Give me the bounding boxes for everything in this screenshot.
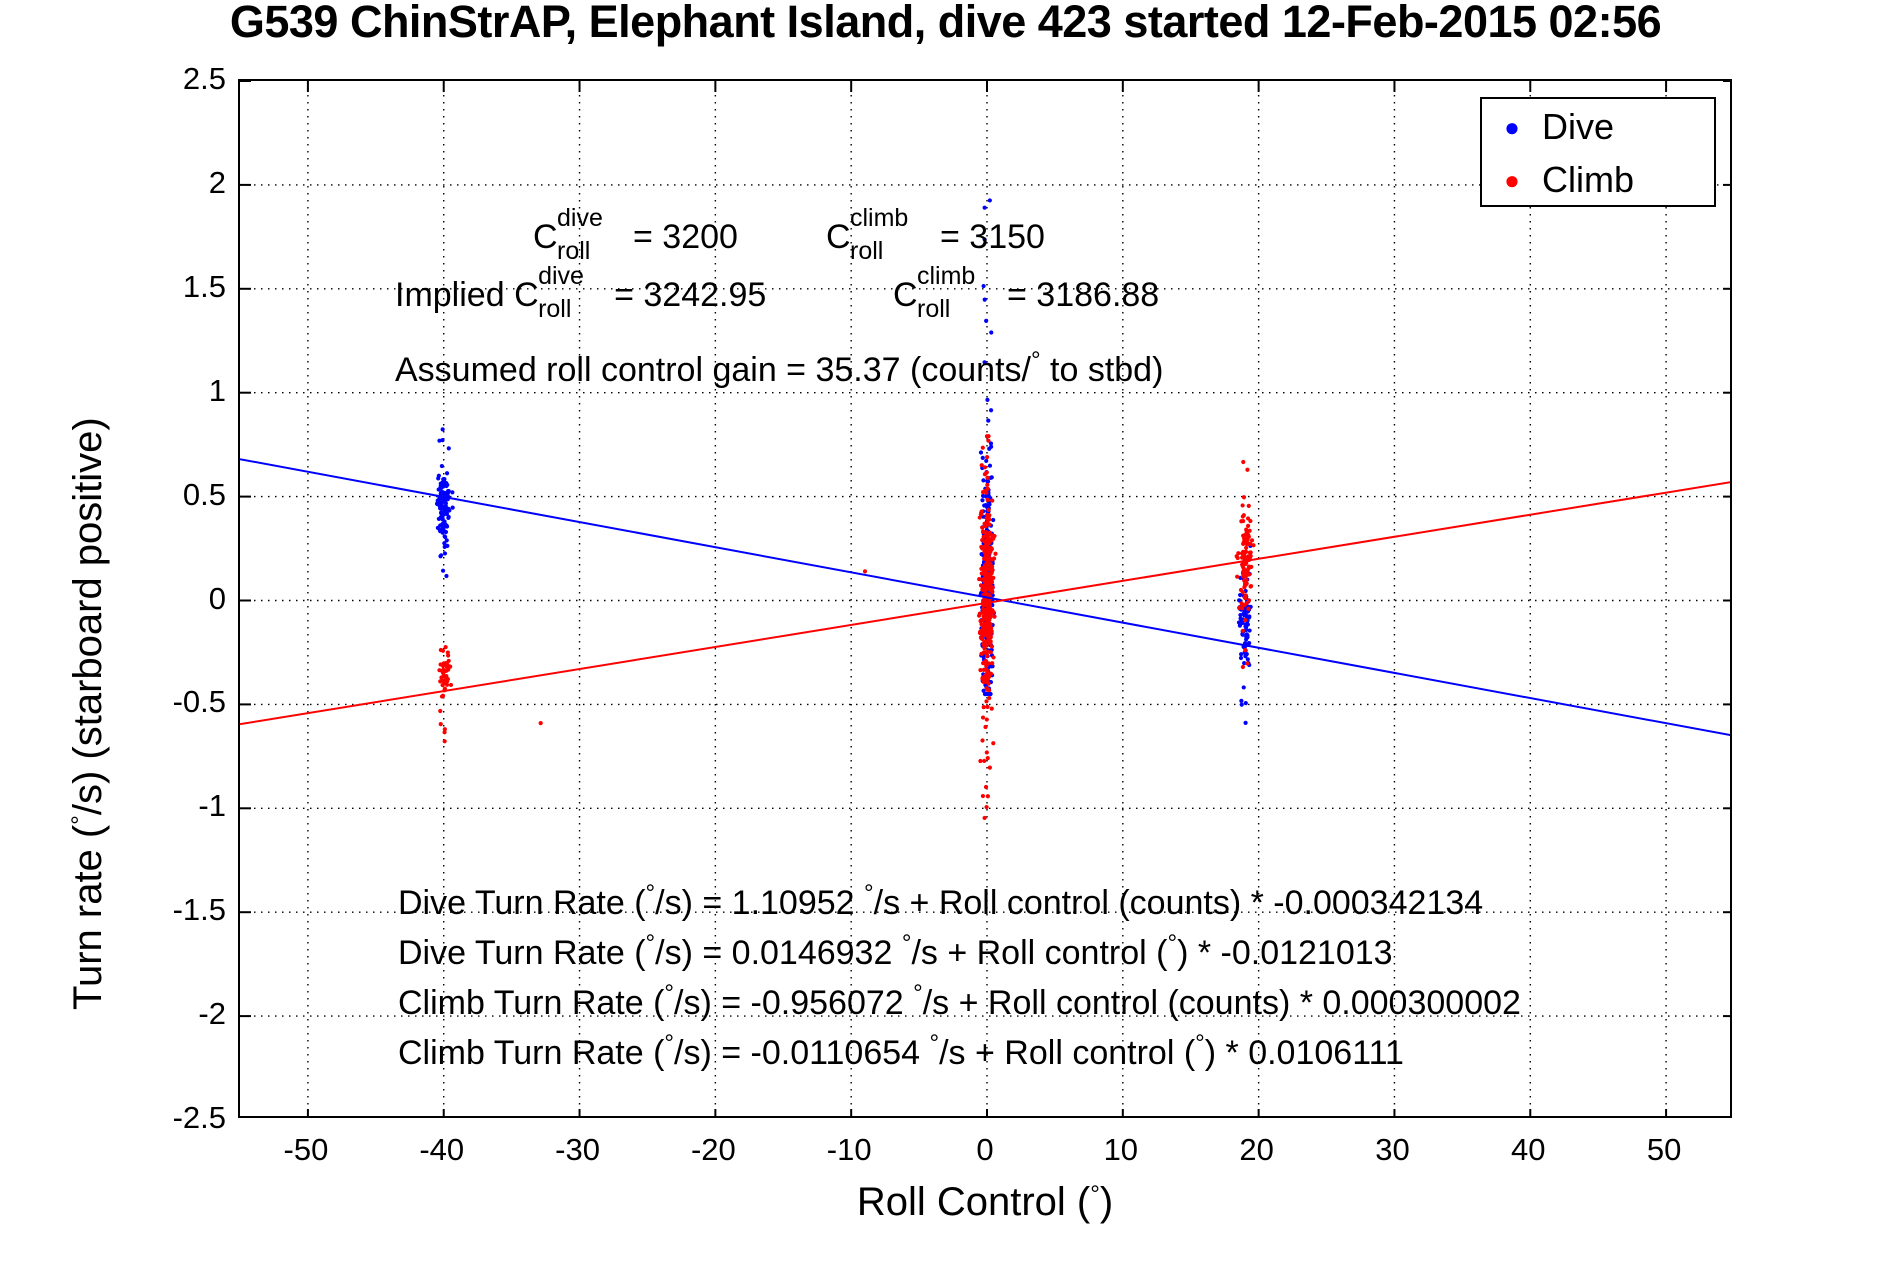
data-point [1246,607,1250,611]
x-tick-label: -20 [663,1132,763,1168]
x-axis-label-text: Roll Control ( [857,1180,1090,1224]
data-point [988,766,992,770]
data-point [986,508,990,512]
data-point [982,816,986,820]
legend-item-dive[interactable]: ● Dive [1482,99,1714,154]
data-point [982,668,986,672]
eq2-head: Climb Turn Rate ( [398,984,664,1022]
y-tick-label: -2.5 [116,1100,226,1136]
c-roll-climb-symbol: Cclimbroll [826,220,851,256]
implied-climb-value: = 3186.88 [998,276,1160,314]
data-point [1235,575,1239,579]
data-point [992,615,996,619]
equation-dive-counts: Dive Turn Rate (°/s) = 1.10952 °/s + Rol… [398,880,1483,923]
data-point [981,794,985,798]
data-point [978,759,982,763]
data-point [990,707,994,711]
data-point [1244,538,1248,542]
data-point [981,478,985,482]
data-point [444,574,448,578]
data-point [992,534,996,538]
x-tick-label: 50 [1614,1132,1714,1168]
data-point [1240,603,1244,607]
data-point [440,515,444,519]
data-point [1246,516,1250,520]
x-tick-label: -10 [799,1132,899,1168]
data-point [984,785,988,789]
data-point [1239,588,1243,592]
x-tick-label: 40 [1478,1132,1578,1168]
eq1-head: Dive Turn Rate ( [398,934,646,972]
data-point [980,463,984,467]
data-point [985,717,989,721]
data-point [989,330,993,334]
data-point [1244,701,1248,705]
eq3-head: Climb Turn Rate ( [398,1034,664,1072]
data-point [1238,616,1242,620]
annotation-implied-dive: Implied Cdiveroll = 3242.95 [395,278,766,314]
eq2-mid: /s) = -0.956072 [674,984,913,1022]
data-point [438,709,442,713]
data-point [1242,685,1246,689]
x-tick-label: -50 [256,1132,356,1168]
data-point [983,206,987,210]
data-point [1247,572,1251,576]
data-point [445,683,449,687]
data-point [1238,623,1242,627]
data-point [1248,529,1252,533]
data-point [441,694,445,698]
data-point [990,644,994,648]
data-point [1245,468,1249,472]
data-point [1243,618,1247,622]
c-roll-climb-value: = 3150 [931,218,1045,256]
c-roll-dive-value: = 3200 [624,218,738,256]
x-axis-label: Roll Control (°) [238,1180,1732,1225]
data-point [445,471,449,475]
data-point [982,549,986,553]
data-point [987,522,991,526]
data-point [981,715,985,719]
eq1-tail: ) * -0.0121013 [1177,934,1393,972]
data-point [989,408,993,412]
data-point [439,722,443,726]
data-point [1242,579,1246,583]
data-point [439,511,443,515]
data-point [539,721,543,725]
y-tick-label: 0.5 [116,477,226,513]
data-point [1241,514,1245,518]
data-point [438,554,442,558]
data-point [991,518,995,522]
data-point [985,750,989,754]
data-point [980,509,984,513]
degree-symbol-icon: ° [1031,347,1041,374]
data-point [1247,641,1251,645]
data-point [984,459,988,463]
data-point [1241,570,1245,574]
data-point [985,654,989,658]
eq0-mid: /s) = 1.10952 [655,884,864,922]
data-point [863,569,867,573]
data-point [450,490,454,494]
data-point [444,645,448,649]
implied-c-roll-dive-symbol: Cdiveroll [514,278,539,314]
data-point [437,668,441,672]
degree-symbol-icon: ° [1195,1030,1205,1057]
data-point [449,683,453,687]
data-point [1245,661,1249,665]
data-point [445,665,449,669]
data-point [989,572,993,576]
data-point [441,505,445,509]
data-point [437,474,441,478]
c-roll-dive-symbol: Cdiveroll [533,220,558,256]
data-point [1241,534,1245,538]
data-point [444,510,448,514]
roll-gain-text: Assumed roll control gain = 35.37 (count… [395,351,1031,389]
data-point [1247,504,1251,508]
degree-symbol-icon: ° [1090,1181,1100,1208]
implied-prefix: Implied [395,276,514,314]
data-point [443,522,447,526]
data-point [982,642,986,646]
data-point [1244,593,1248,597]
data-point [1247,565,1251,569]
data-point [1244,613,1248,617]
y-tick-label: 2 [116,165,226,201]
data-point [441,683,445,687]
data-point [991,655,995,659]
data-point [987,688,991,692]
annotation-c-roll-dive: Cdiveroll = 3200 [533,220,738,256]
data-point [984,699,988,703]
data-point [989,611,993,615]
data-point [1239,519,1243,523]
data-point [986,794,990,798]
data-point [982,676,986,680]
data-point [984,664,988,668]
data-point [447,446,451,450]
degree-symbol-icon: ° [913,980,923,1007]
data-point [977,614,981,618]
data-point [990,498,994,502]
data-point [979,652,983,656]
data-point [442,661,446,665]
data-point [982,759,986,763]
data-point [1239,699,1243,703]
data-point [985,470,989,474]
x-tick-label: 20 [1207,1132,1307,1168]
x-tick-label: 10 [1071,1132,1171,1168]
data-point [444,530,448,534]
data-point [438,528,442,532]
scatter-series-climb [437,434,1255,820]
data-point [985,483,989,487]
eq2-mid2: /s + Roll control (counts) * 0.000300002 [923,984,1521,1022]
y-tick-label: -0.5 [116,684,226,720]
y-axis-label-text: Turn rate ( [66,825,110,1010]
legend-marker-dive-icon: ● [1482,114,1542,140]
data-point [987,696,991,700]
data-point [990,475,994,479]
data-point [440,464,444,468]
data-point [446,653,450,657]
data-point [989,626,993,630]
data-point [982,705,986,709]
implied-c-roll-climb-symbol: Cclimbroll [893,278,918,314]
data-point [984,489,988,493]
data-point [1245,622,1249,626]
data-point [987,502,991,506]
data-point [443,727,447,731]
roll-gain-tail: to stbd) [1041,351,1164,389]
data-point [1241,460,1245,464]
legend-item-climb[interactable]: ● Climb [1482,152,1714,207]
eq1-mid2: /s + Roll control ( [911,934,1167,972]
degree-symbol-icon: ° [67,815,94,825]
data-point [438,523,442,527]
y-tick-label: 1.5 [116,269,226,305]
data-point [985,398,989,402]
data-point [984,659,988,663]
equation-climb-counts: Climb Turn Rate (°/s) = -0.956072 °/s + … [398,980,1521,1023]
data-point [1241,665,1245,669]
data-point [437,439,441,443]
data-point [990,661,994,665]
data-point [991,741,995,745]
data-point [981,625,985,629]
data-point [1240,562,1244,566]
data-point [983,563,987,567]
data-point [439,483,443,487]
legend-label-dive: Dive [1542,106,1614,148]
annotation-implied-climb: Cclimbroll = 3186.88 [893,278,1159,314]
data-point [1246,657,1250,661]
data-point [439,490,443,494]
data-point [984,572,988,576]
data-point [978,515,982,519]
annotation-roll-gain: Assumed roll control gain = 35.37 (count… [395,348,1163,389]
data-point [984,319,988,323]
data-point [441,427,445,431]
data-point [986,604,990,608]
figure-root: G539 ChinStrAP, Elephant Island, dive 42… [0,0,1891,1262]
degree-symbol-icon: ° [646,930,656,957]
data-point [984,692,988,696]
data-point [1236,551,1240,555]
data-point [1240,555,1244,559]
legend-marker-climb-icon: ● [1482,167,1542,193]
data-point [1248,550,1252,554]
data-point [1241,503,1245,507]
equation-climb-degrees: Climb Turn Rate (°/s) = -0.0110654 °/s +… [398,1030,1404,1073]
eq3-mid2: /s + Roll control ( [939,1034,1195,1072]
data-point [1243,583,1247,587]
data-point [987,675,991,679]
data-point [984,581,988,585]
data-point [1247,628,1251,632]
y-tick-label: -2 [116,996,226,1032]
data-point [988,464,992,468]
data-point [1239,656,1243,660]
data-point [990,580,994,584]
data-point [446,516,450,520]
y-tick-label: -1.5 [116,892,226,928]
data-point [1249,584,1253,588]
eq1-mid: /s) = 0.0146932 [655,934,902,972]
data-point [980,526,984,530]
x-tick-label: -30 [528,1132,628,1168]
data-point [1243,648,1247,652]
data-point [984,539,988,543]
data-point [985,650,989,654]
y-axis-label: Turn rate (°/s) (starboard positive) [66,417,111,1010]
x-tick-label: 0 [935,1132,1035,1168]
data-point [982,503,986,507]
data-point [986,434,990,438]
implied-dive-value: = 3242.95 [605,276,767,314]
data-point [988,198,992,202]
y-tick-label: 0 [116,581,226,617]
data-point [442,477,446,481]
degree-symbol-icon: ° [1167,930,1177,957]
data-point [1242,566,1246,570]
data-point [443,534,447,538]
degree-symbol-icon: ° [664,980,674,1007]
data-point [982,535,986,539]
data-point [981,607,985,611]
annotation-c-roll-climb: Cclimbroll = 3150 [826,220,1045,256]
legend-label-climb: Climb [1542,159,1634,201]
data-point [986,498,990,502]
data-point [978,631,982,635]
degree-symbol-icon: ° [864,880,874,907]
data-point [443,551,447,555]
data-point [1237,606,1241,610]
data-point [1240,703,1244,707]
data-point [989,632,993,636]
data-point [986,418,990,422]
legend[interactable]: ● Dive ● Climb [1480,97,1716,207]
data-point [441,649,445,653]
equation-dive-degrees: Dive Turn Rate (°/s) = 0.0146932 °/s + R… [398,930,1393,973]
data-point [989,650,993,654]
data-point [443,545,447,549]
data-point [1247,598,1251,602]
data-point [1241,629,1245,633]
x-tick-label: 30 [1342,1132,1442,1168]
data-point [984,805,988,809]
data-point [1241,574,1245,578]
data-point [985,455,989,459]
data-point [985,705,989,709]
eq3-tail: ) * 0.0106111 [1205,1034,1404,1072]
data-point [1240,551,1244,555]
x-axis-label-unit: ) [1100,1180,1113,1224]
data-point [990,557,994,561]
data-point [1244,546,1248,550]
data-point [1242,495,1246,499]
data-point [444,481,448,485]
chart-title: G539 ChinStrAP, Elephant Island, dive 42… [0,0,1891,48]
data-point [986,681,990,685]
data-point [443,739,447,743]
degree-symbol-icon: ° [902,930,912,957]
data-point [984,630,988,634]
eq3-mid: /s) = -0.0110654 [674,1034,929,1072]
data-point [437,500,441,504]
y-tick-label: 1 [116,373,226,409]
data-point [447,659,451,663]
data-point [990,568,994,572]
data-point [981,446,985,450]
data-point [993,552,997,556]
data-point [983,725,987,729]
data-point [1243,721,1247,725]
data-point [987,553,991,557]
degree-symbol-icon: ° [646,880,656,907]
data-point [441,668,445,672]
data-point [986,439,990,443]
y-tick-label: -1 [116,788,226,824]
data-point [444,676,448,680]
data-point [979,450,983,454]
data-point [443,498,447,502]
data-point [985,514,989,518]
data-point [1246,524,1250,528]
data-point [1248,542,1252,546]
data-point [441,569,445,573]
data-point [1244,635,1248,639]
y-axis-label-unit: /s) (starboard positive) [66,417,110,815]
data-point [991,585,995,589]
data-point [986,559,990,563]
data-point [985,476,989,480]
data-point [988,692,992,696]
data-point [988,641,992,645]
degree-symbol-icon: ° [930,1030,940,1057]
data-point [988,549,992,553]
data-point [981,456,985,460]
data-point [980,498,984,502]
y-tick-label: 2.5 [116,61,226,97]
data-point [985,585,989,589]
eq0-mid2: /s + Roll control (counts) * -0.00034213… [874,884,1484,922]
degree-symbol-icon: ° [664,1030,674,1057]
eq0-head: Dive Turn Rate ( [398,884,646,922]
data-point [983,545,987,549]
data-point [981,618,985,622]
data-point [987,517,991,521]
data-point [980,738,984,742]
data-point [986,756,990,760]
data-point [442,541,446,545]
x-tick-label: -40 [392,1132,492,1168]
data-point [451,506,455,510]
